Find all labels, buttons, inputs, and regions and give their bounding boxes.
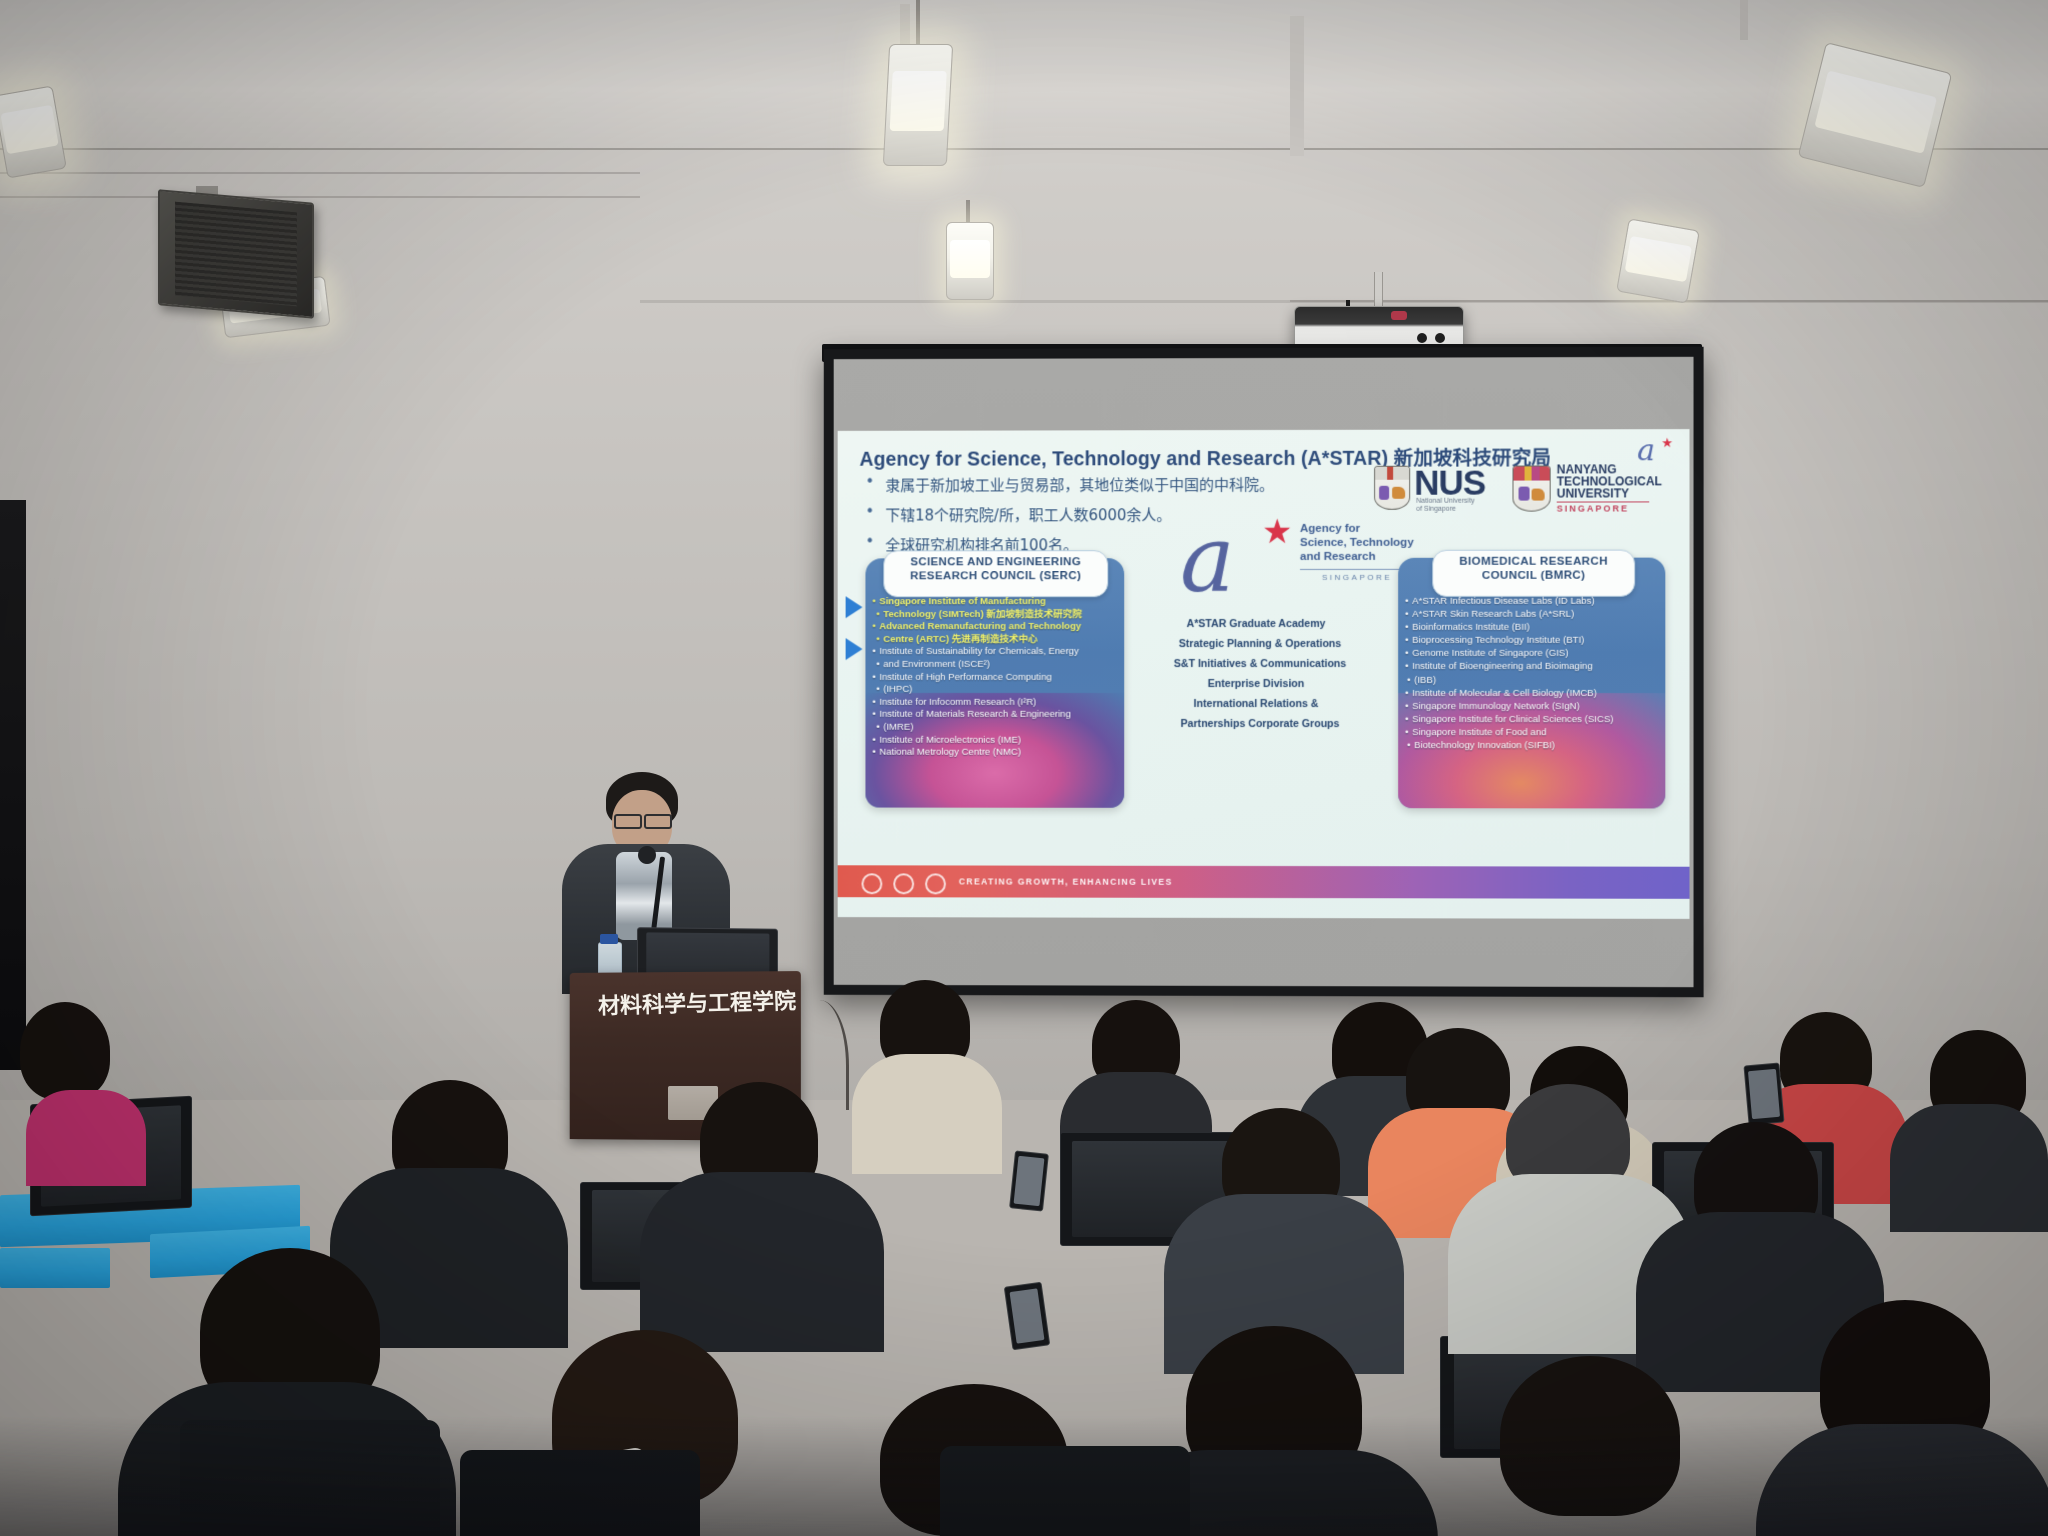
presentation-slide: Agency for Science, Technology and Resea…: [838, 429, 1690, 919]
ceiling-lamp: [946, 222, 994, 300]
slide-footer-bar: CREATING GROWTH, ENHANCING LIVES: [838, 865, 1690, 899]
ntu-country: SINGAPORE: [1557, 503, 1629, 513]
bmrc-item: Biotechnology Innovation (SIFBI): [1412, 740, 1675, 752]
lamp-rod: [916, 0, 920, 46]
astar-star-icon: ★: [1661, 435, 1673, 451]
astar-star-icon: ★: [1262, 512, 1292, 552]
audience-phone: [1004, 1282, 1051, 1351]
serc-item: (IMRE): [879, 722, 1128, 734]
desk-cover: [0, 1248, 110, 1288]
serc-item: Institute of Microelectronics (IME): [879, 734, 1128, 746]
serc-item: National Metrology Centre (NMC): [879, 747, 1128, 759]
serc-item: Institute of High Performance Computing: [879, 672, 1128, 684]
ntu-wordmark-line3: UNIVERSITY: [1557, 487, 1629, 500]
wall-speaker: [158, 189, 314, 319]
serc-item: (IHPC): [879, 684, 1128, 696]
astar-logo-line3: and Research: [1300, 550, 1376, 564]
wall-seam: [0, 196, 640, 198]
serc-item: Singapore Institute of Manufacturing: [879, 596, 1128, 608]
wall-seam: [0, 172, 640, 174]
centre-item: International Relations &: [1130, 698, 1390, 711]
glasses-icon: [614, 814, 642, 829]
foreground-shade: [0, 1416, 2048, 1536]
audience-phone: [1009, 1150, 1049, 1211]
bmrc-item: Singapore Institute for Clinical Science…: [1412, 714, 1675, 726]
bmrc-item: Singapore Institute of Food and: [1412, 727, 1675, 739]
bmrc-heading-line1: BIOMEDICAL RESEARCH: [1433, 556, 1634, 570]
microphone-head: [638, 846, 656, 864]
audience-person: [640, 1172, 884, 1352]
bmrc-item: A*STAR Skin Research Labs (A*SRL): [1412, 609, 1675, 621]
pointer-arrow-icon: [846, 638, 863, 660]
astar-logo-mark: a: [1180, 514, 1235, 606]
centre-item: S&T Initiatives & Communications: [1130, 658, 1390, 671]
astar-corner-mark: a: [1637, 433, 1655, 468]
footer-icon-3: [925, 873, 946, 894]
serc-item: Institute of Materials Research & Engine…: [879, 709, 1128, 721]
serc-heading-line1: SCIENCE AND ENGINEERING: [884, 556, 1107, 570]
nus-subtitle-line2: of Singapore: [1416, 506, 1456, 513]
astar-logo-line1: Agency for: [1300, 522, 1360, 536]
serc-item: Centre (ARTC) 先进再制造技术中心: [879, 634, 1128, 646]
lamp-rod: [966, 200, 970, 224]
pointer-arrow-icon: [846, 596, 863, 618]
glasses-icon: [644, 814, 672, 829]
astar-logo-country: SINGAPORE: [1322, 573, 1392, 582]
audience-person: [852, 1054, 1002, 1174]
ceiling-lamp: [1616, 218, 1700, 303]
serc-item: Institute for Infocomm Research (I²R): [879, 697, 1128, 709]
bmrc-heading-line2: COUNCIL (BMRC): [1433, 569, 1634, 583]
bmrc-item: Bioprocessing Technology Institute (BTI): [1412, 635, 1675, 647]
footer-tagline: CREATING GROWTH, ENHANCING LIVES: [959, 876, 1173, 886]
ceiling-lamp: [883, 44, 953, 166]
lecture-hall-photo: Agency for Science, Technology and Resea…: [0, 0, 2048, 1536]
astar-logo-line2: Science, Technology: [1300, 536, 1414, 550]
bmrc-item: A*STAR Infectious Disease Labs (ID Labs): [1412, 596, 1675, 608]
serc-item: Institute of Sustainability for Chemical…: [879, 646, 1128, 658]
centre-item: Enterprise Division: [1130, 678, 1390, 691]
bmrc-heading: BIOMEDICAL RESEARCH COUNCIL (BMRC): [1432, 550, 1635, 597]
bmrc-item: Singapore Immunology Network (SIgN): [1412, 701, 1675, 713]
ceiling-edge-line: [0, 148, 2048, 150]
door-edge: [0, 500, 26, 1070]
bmrc-institute-list: A*STAR Infectious Disease Labs (ID Labs)…: [1412, 596, 1675, 754]
projection-screen: Agency for Science, Technology and Resea…: [824, 347, 1704, 997]
bullet-item: 隶属于新加坡工业与贸易部，其地位类似于中国的中科院。: [885, 474, 1274, 496]
bottle-cap: [600, 934, 618, 944]
bmrc-item: Institute of Bioengineering and Bioimagi…: [1412, 661, 1675, 673]
centre-item: Partnerships Corporate Groups: [1130, 718, 1390, 731]
podium-institution-label: 材料科学与工程学院: [598, 983, 797, 1020]
serc-institute-list: Singapore Institute of Manufacturing Tec…: [879, 596, 1128, 760]
footer-icon-2: [893, 873, 914, 894]
centre-item: Strategic Planning & Operations: [1130, 638, 1390, 651]
serc-heading-line2: RESEARCH COUNCIL (SERC): [884, 570, 1107, 584]
ceiling-conduit: [1740, 0, 1748, 40]
audience-phone: [1743, 1063, 1784, 1126]
audience-person: [26, 1090, 146, 1186]
serc-heading: SCIENCE AND ENGINEERING RESEARCH COUNCIL…: [883, 550, 1108, 597]
bmrc-item: Genome Institute of Singapore (GIS): [1412, 648, 1675, 660]
astar-central-groups: A*STAR Graduate Academy Strategic Planni…: [1130, 618, 1390, 738]
footer-icon-1: [861, 873, 882, 894]
serc-item: and Environment (ISCE²): [879, 659, 1128, 671]
ceiling-conduit: [1290, 16, 1304, 156]
serc-item: Advanced Remanufacturing and Technology: [879, 621, 1128, 633]
ntu-shield-icon: [1512, 465, 1550, 511]
bmrc-item: (IBB): [1412, 675, 1675, 687]
centre-item: A*STAR Graduate Academy: [1130, 618, 1390, 631]
serc-item: Technology (SIMTech) 新加坡制造技术研究院: [879, 609, 1128, 621]
bmrc-item: Bioinformatics Institute (BII): [1412, 622, 1675, 634]
nus-subtitle-line1: National University: [1416, 498, 1475, 505]
nus-shield-icon: [1374, 466, 1410, 510]
audience-head: [20, 1002, 110, 1100]
bmrc-item: Institute of Molecular & Cell Biology (I…: [1412, 688, 1675, 700]
audience-person: [1890, 1104, 2048, 1232]
